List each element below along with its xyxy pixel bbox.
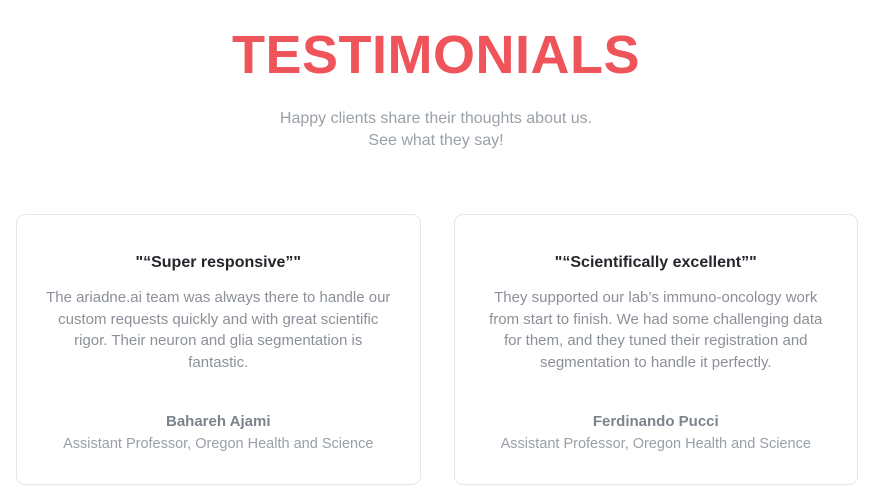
testimonial-attribution: Ferdinando Pucci Assistant Professor, Or… bbox=[483, 385, 830, 454]
section-subtitle-line-2: See what they say! bbox=[0, 130, 872, 152]
section-subtitle: Happy clients share their thoughts about… bbox=[0, 86, 872, 152]
testimonial-quote-title: "“Scientifically excellent”" bbox=[483, 253, 830, 273]
testimonial-card: "“Super responsive”" The ariadne.ai team… bbox=[16, 214, 421, 485]
section-subtitle-line-1: Happy clients share their thoughts about… bbox=[0, 108, 872, 130]
page-title: TESTIMONIALS bbox=[0, 0, 872, 86]
testimonial-author-name: Ferdinando Pucci bbox=[483, 411, 830, 432]
testimonial-quote-body: The ariadne.ai team was always there to … bbox=[45, 273, 392, 373]
testimonial-author-name: Bahareh Ajami bbox=[45, 411, 392, 432]
testimonial-attribution: Bahareh Ajami Assistant Professor, Orego… bbox=[45, 385, 392, 454]
testimonial-card-list: "“Super responsive”" The ariadne.ai team… bbox=[16, 214, 858, 485]
testimonial-card: "“Scientifically excellent”" They suppor… bbox=[454, 214, 859, 485]
testimonial-quote-title: "“Super responsive”" bbox=[45, 253, 392, 273]
testimonials-section: TESTIMONIALS Happy clients share their t… bbox=[0, 0, 872, 504]
testimonial-author-role: Assistant Professor, Oregon Health and S… bbox=[483, 432, 830, 454]
testimonial-quote-body: They supported our lab’s immuno-oncology… bbox=[483, 273, 830, 373]
testimonial-author-role: Assistant Professor, Oregon Health and S… bbox=[45, 432, 392, 454]
